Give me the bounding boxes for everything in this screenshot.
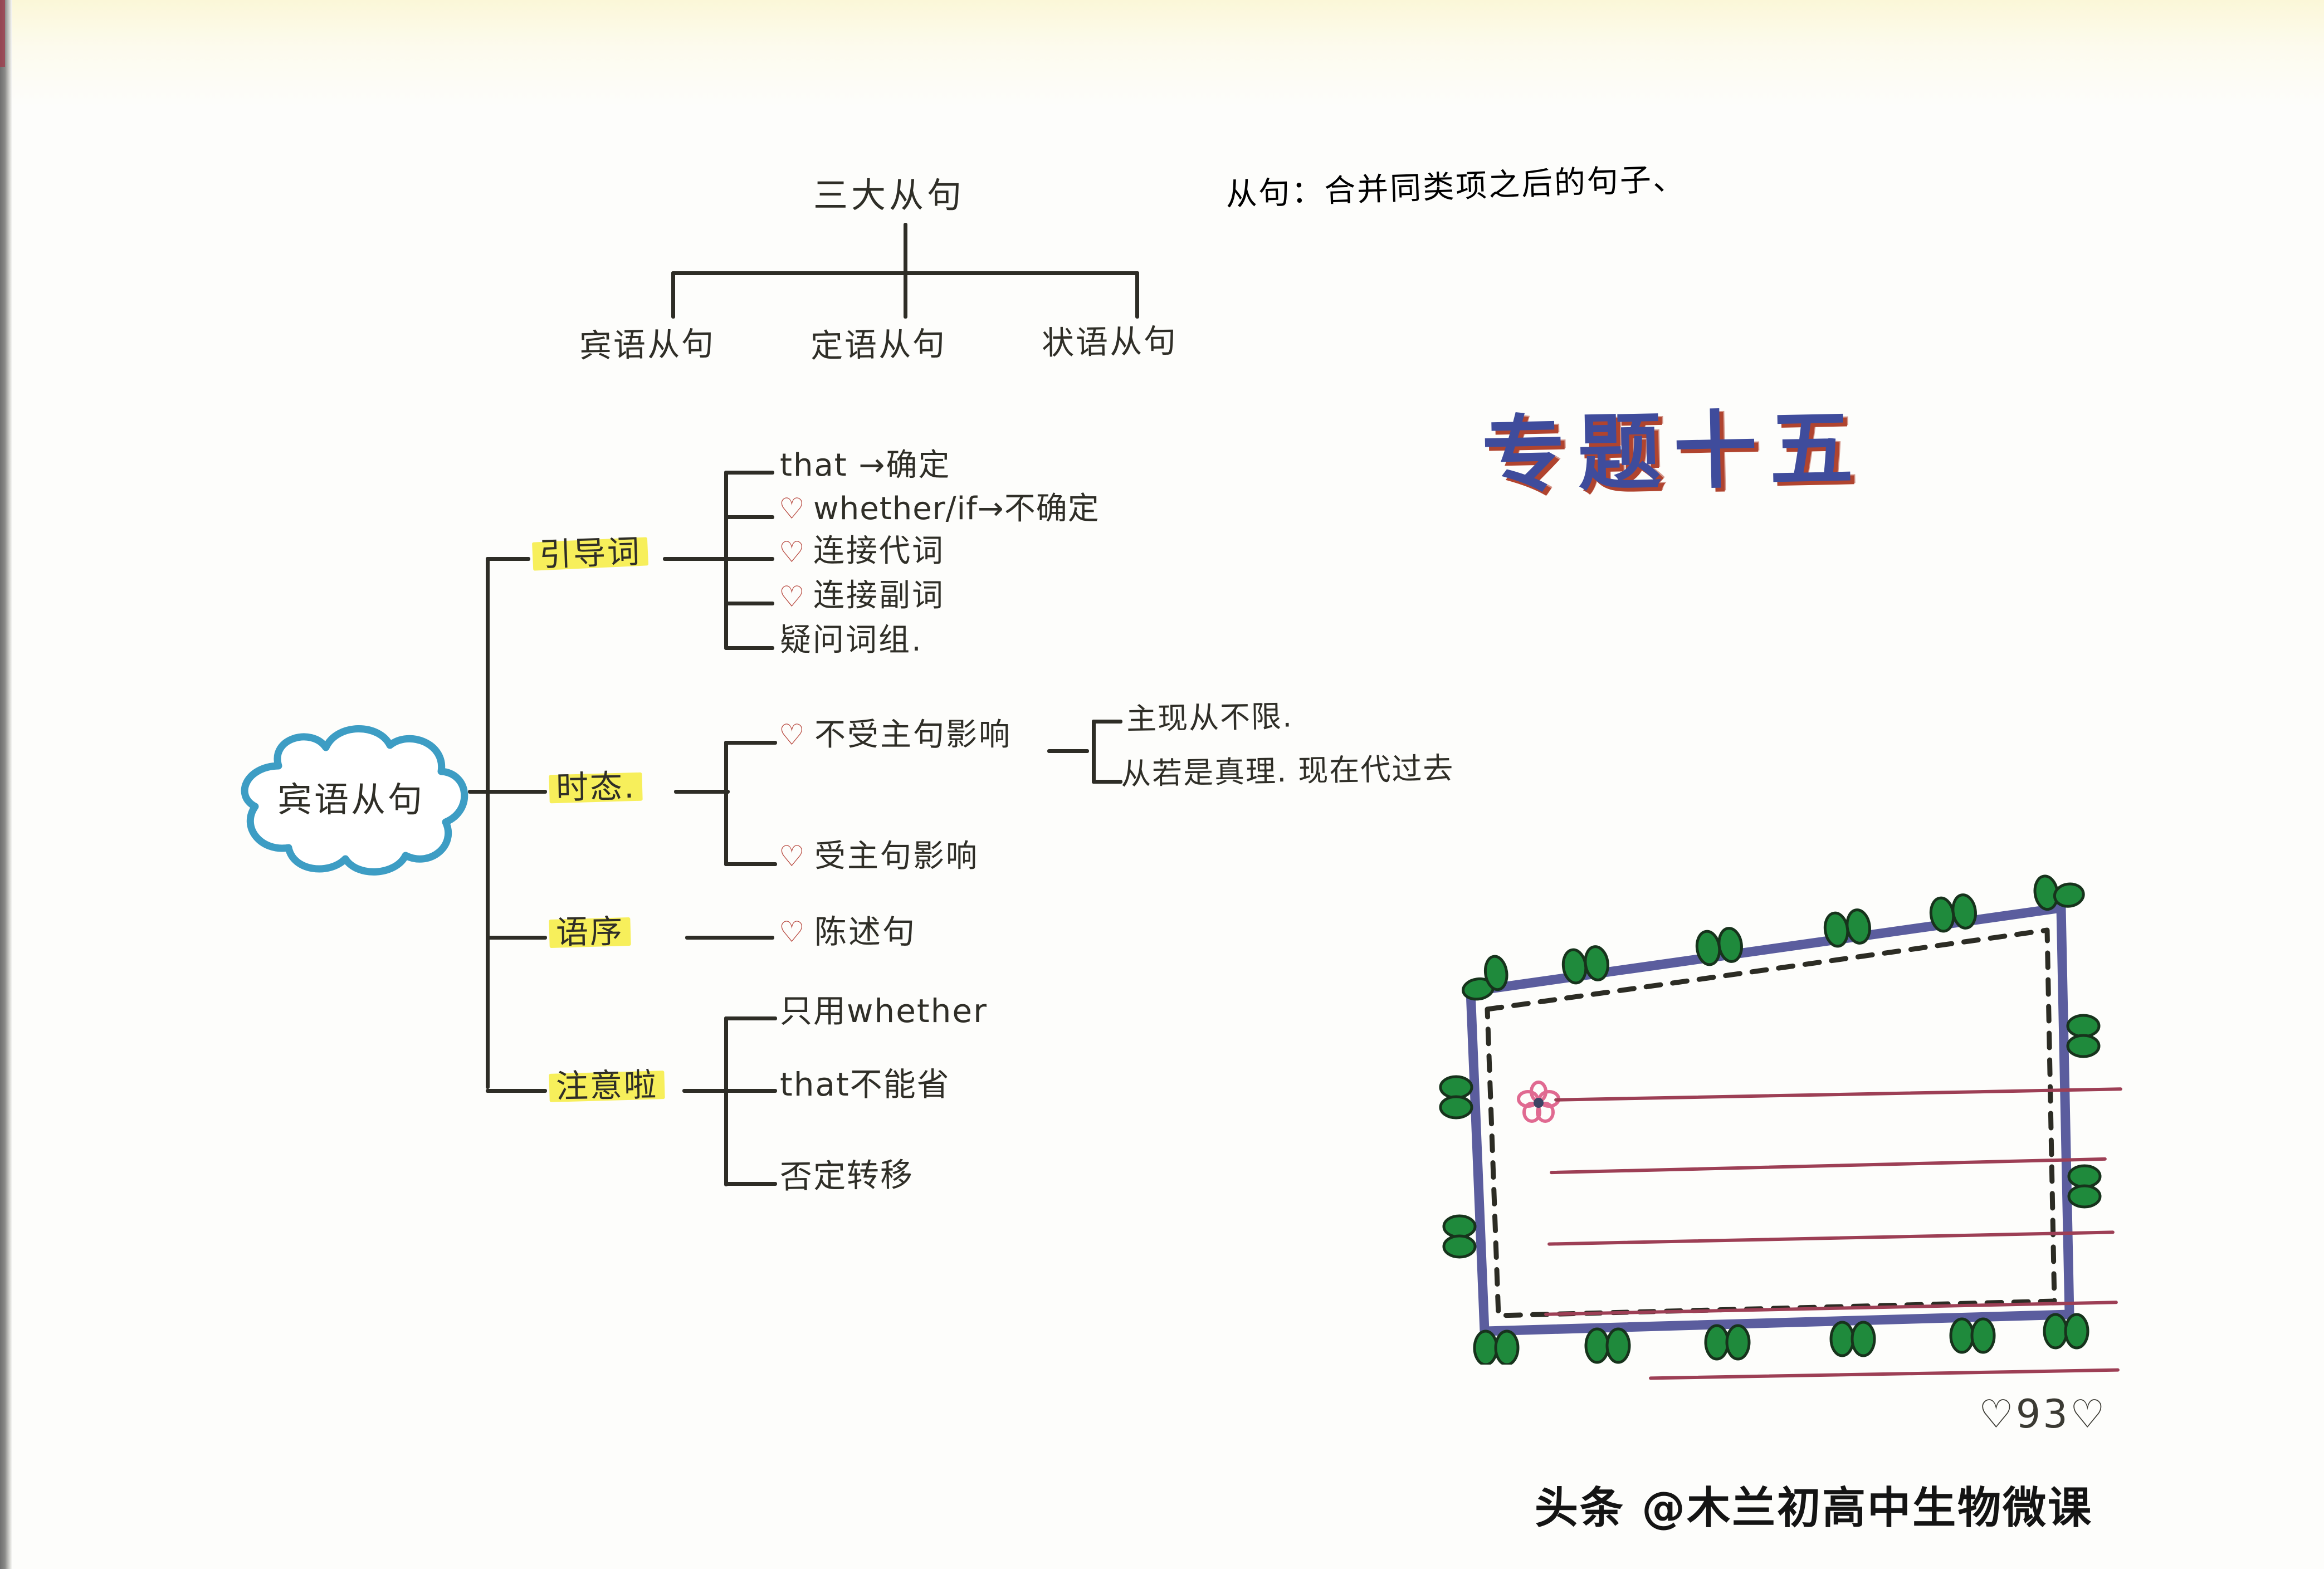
branch-4-label: 注意啦 [552, 1067, 661, 1103]
branch-4-item-2: 否定转移 [780, 1159, 914, 1193]
heart-bullet-icon: ♡ [779, 842, 805, 871]
subnote-bracket-spine [1092, 720, 1096, 784]
branch-1-to-bracket [663, 557, 730, 561]
subnote-tick-1 [1092, 780, 1122, 784]
paper-tint [0, 0, 2324, 106]
top-tree-child-0: 宾语从句 [579, 328, 716, 362]
branch-4-tick-0 [724, 1016, 777, 1020]
branch-2-tick-0 [724, 741, 777, 745]
branch-4-label-wrap: 注意啦 [552, 1067, 661, 1103]
branch-3-connector [685, 936, 774, 940]
branch-2-tick-1 [724, 862, 777, 866]
heart-bullet-icon: ♡ [779, 538, 805, 567]
branch-4-tick-1 [724, 1089, 777, 1093]
top-tree-child-1: 定语从句 [811, 328, 947, 362]
branch-1-item-1: whether/if→不确定 [813, 493, 1100, 525]
branch-2-stem [486, 790, 547, 794]
branch-4-stem [486, 1089, 547, 1093]
branch-4-item-1: that不能省 [780, 1068, 950, 1101]
note-box-dashed-border [1487, 930, 2054, 1316]
branch-1-item-2: 连接代词 [813, 536, 945, 567]
root-node-label: 宾语从句 [212, 713, 490, 880]
branch-1-item-0: that →确定 [780, 450, 950, 481]
heart-bullet-icon: ♡ [779, 495, 805, 524]
branch-1-tick-2 [724, 557, 774, 561]
heart-bullet-icon: ♡ [779, 721, 805, 750]
top-tree-drop-3 [1135, 271, 1139, 319]
branch-3-label: 语序 [552, 914, 627, 950]
branch-1-stem [486, 557, 530, 561]
subnote-connector [1047, 749, 1089, 753]
note-box-purple-border [1471, 908, 2069, 1331]
branch-3-stem [486, 936, 547, 940]
note-box-frame [1387, 852, 2122, 1365]
root-node-cloud: 宾语从句 [212, 713, 490, 880]
note-line [1649, 1368, 2120, 1380]
subnote-tick-0 [1092, 720, 1122, 724]
branch-1-label-wrap: 引导词 [535, 534, 645, 573]
branch-2-item-1: 受主句影响 [814, 841, 979, 872]
top-tree-drop-2 [904, 271, 907, 319]
branch-3-label-wrap: 语序 [552, 914, 627, 950]
branch-2-subnote-1: 从若是真理. 现在代过去 [1121, 754, 1454, 789]
branch-2-subnote-0: 主现从不限. [1126, 701, 1293, 734]
flower-icon [1519, 1082, 1559, 1121]
branch-1-label: 引导词 [535, 534, 645, 573]
top-tree-drop-1 [671, 271, 675, 319]
scan-edge-strip [0, 0, 12, 1569]
heart-bullet-icon: ♡ [779, 918, 805, 947]
branch-1-tick-0 [724, 471, 774, 475]
branch-1-item-3: 连接副词 [813, 580, 945, 612]
branch-4-tick-2 [724, 1182, 777, 1186]
page-title: 专题十五 [1481, 380, 1866, 509]
branch-2-bracket-spine [724, 741, 728, 866]
top-tree-child-2: 状语从句 [1042, 325, 1178, 359]
footer-watermark: 头条 @木兰初高中生物微课 [1535, 1473, 2093, 1536]
branch-2-to-bracket [674, 790, 730, 794]
branch-2-label-wrap: 时态. [552, 769, 639, 805]
branch-4-bracket-spine [724, 1016, 728, 1186]
branch-1-tick-1 [724, 515, 774, 519]
top-tree-root-label: 三大从句 [813, 178, 965, 213]
branch-1-item-4: 疑问词组. [780, 625, 923, 656]
branch-3-item-0: 陈述句 [814, 916, 916, 948]
branch-1-tick-3 [724, 602, 774, 605]
heart-bullet-icon: ♡ [779, 583, 805, 612]
scan-edge-red-mark [0, 0, 5, 67]
decorative-note-box [1387, 852, 2122, 1365]
branch-2-item-0: 不受主句影响 [814, 720, 1012, 751]
notebook-page: 三大从句 宾语从句 定语从句 状语从句 从句：合并同类项之后的句子、 专题十五 … [0, 0, 2324, 1569]
branch-2-label: 时态. [552, 769, 639, 805]
top-tree-root-stem [904, 223, 907, 273]
page-number: ♡93♡ [1979, 1391, 2107, 1437]
main-spine [486, 557, 490, 1089]
branch-1-tick-4 [724, 646, 774, 650]
clause-definition-note: 从句：合并同类项之后的句子、 [1225, 154, 1686, 215]
branch-4-to-bracket [682, 1089, 730, 1093]
branch-4-item-0: 只用whether [780, 995, 988, 1027]
